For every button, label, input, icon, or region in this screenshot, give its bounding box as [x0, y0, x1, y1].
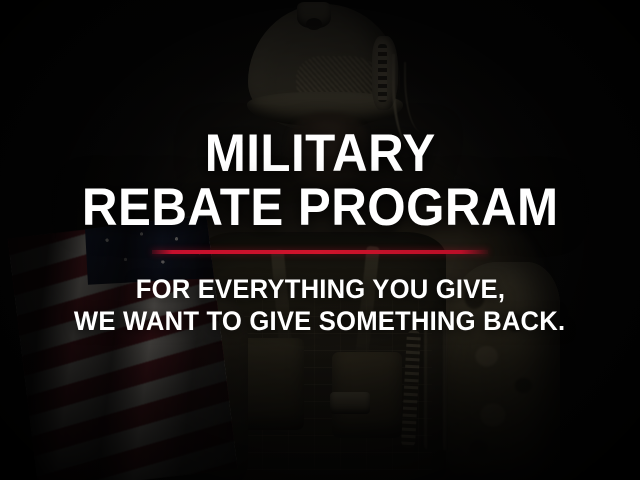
banner-content: MILITARY REBATE PROGRAM FOR EVERYTHING Y…	[0, 0, 640, 480]
headline-line-1: MILITARY	[205, 128, 436, 180]
subtitle-line-2: WE WANT TO GIVE SOMETHING BACK.	[74, 306, 565, 337]
headline-line-2: REBATE PROGRAM	[82, 182, 559, 234]
military-rebate-program-banner: MILITARY REBATE PROGRAM FOR EVERYTHING Y…	[0, 0, 640, 480]
red-divider-rule	[152, 250, 488, 254]
subtitle-line-1: FOR EVERYTHING YOU GIVE,	[135, 274, 504, 305]
